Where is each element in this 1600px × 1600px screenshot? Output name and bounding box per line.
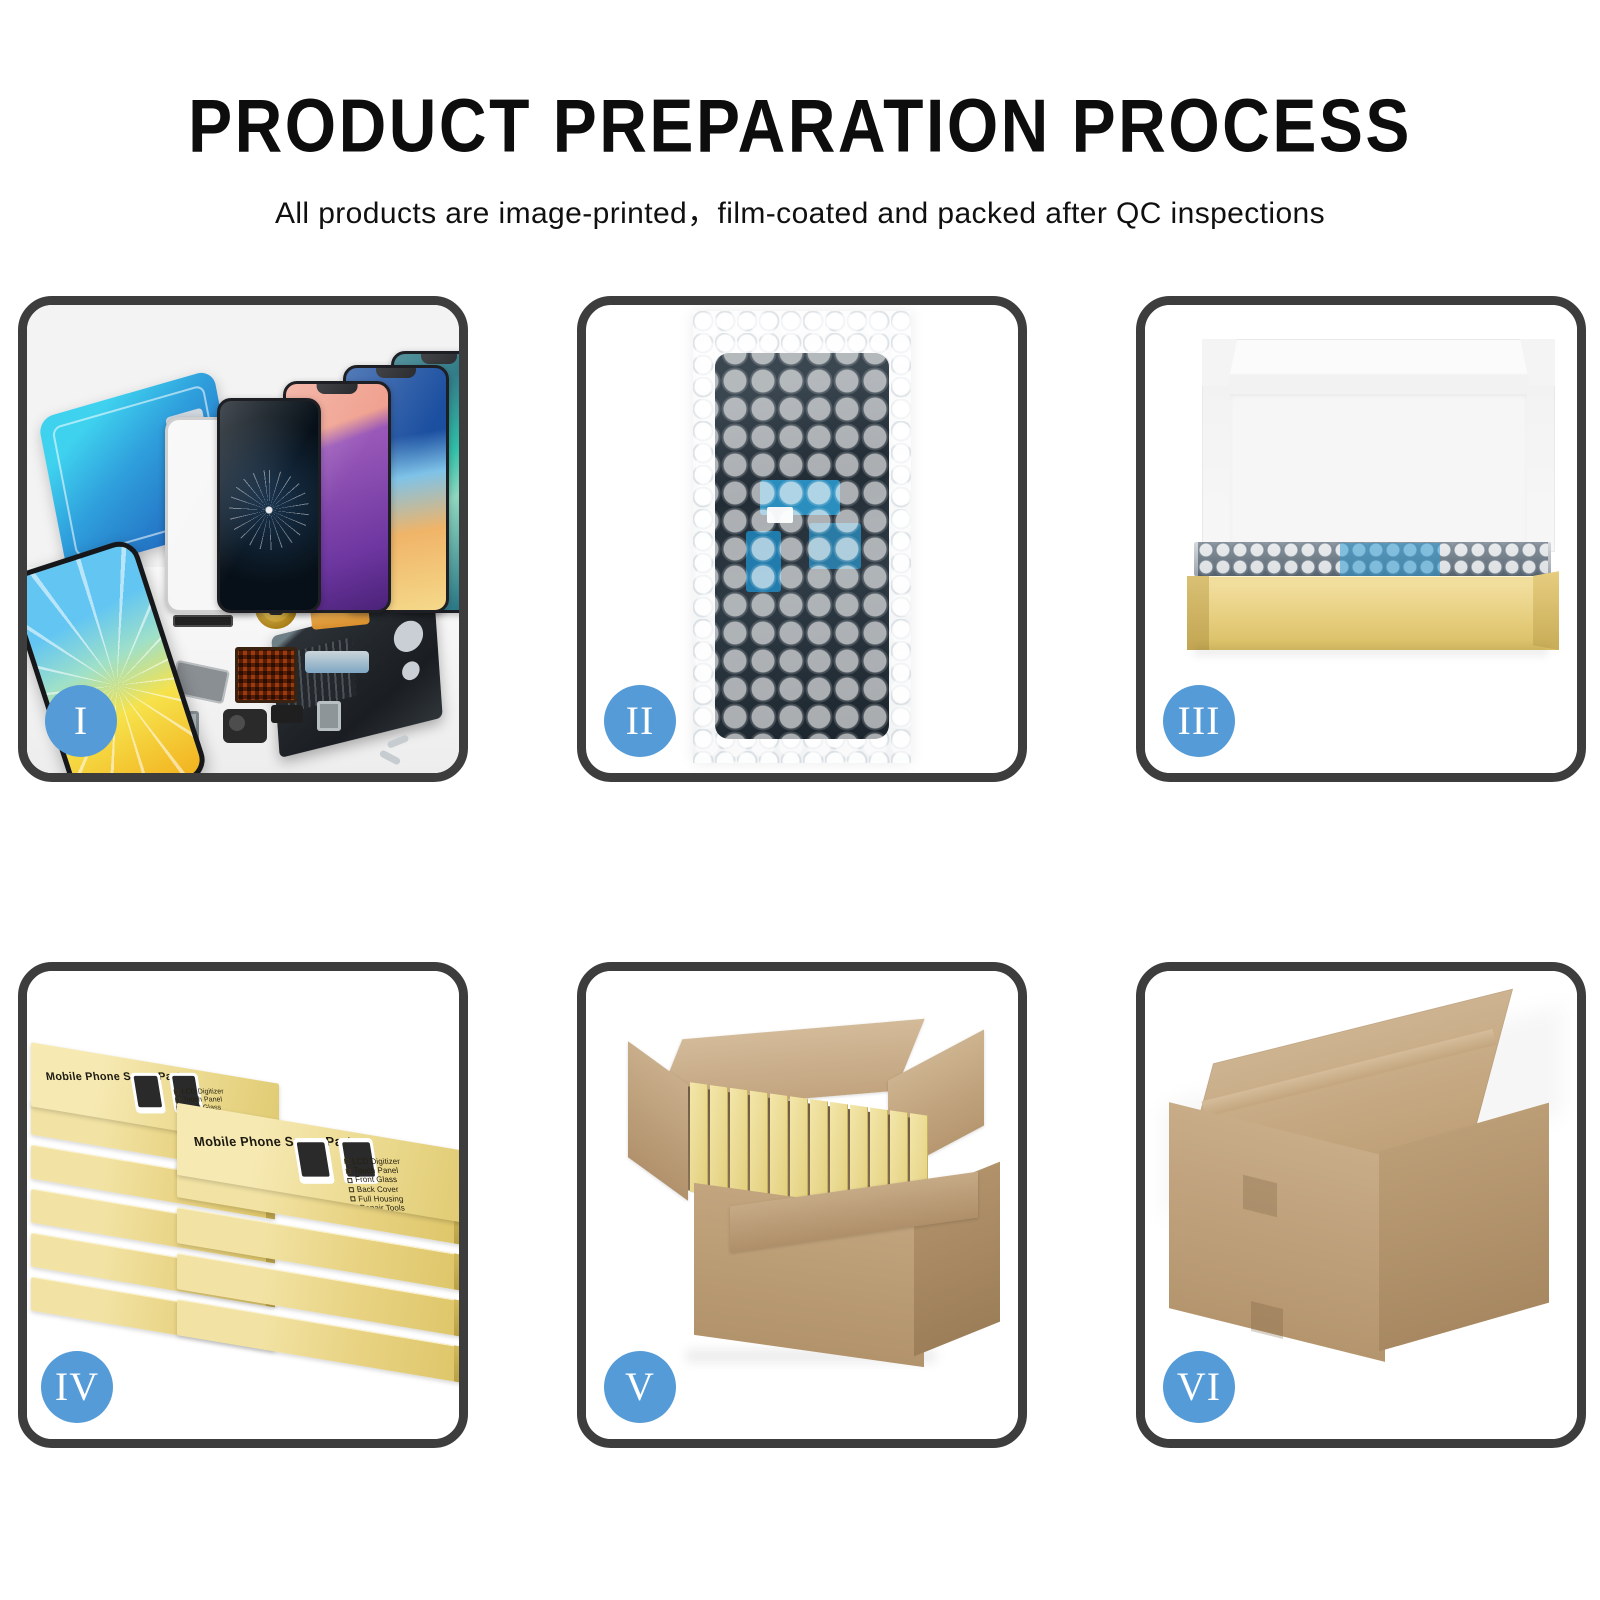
checklist-item: LCD Digitizer	[344, 1157, 401, 1166]
step-numeral-6: VI	[1177, 1367, 1221, 1407]
speaker-bar-part	[173, 615, 233, 627]
product-label-sticker	[767, 507, 793, 523]
box-shadow	[1194, 647, 1547, 656]
step-panel-6: VI	[1136, 962, 1586, 1448]
step-panel-1: I	[18, 296, 468, 782]
retail-box-stack: Mobile Phone Spare Parts LCD Digitizer T…	[27, 989, 459, 1409]
step-badge-5: V	[604, 1351, 676, 1423]
spare-parts-group	[167, 587, 397, 767]
contents-blue-accent	[1340, 543, 1440, 577]
screen-thumb-white	[293, 1138, 335, 1183]
phone-cracked-screen	[217, 398, 321, 613]
header: PRODUCT PREPARATION PROCESS All products…	[0, 0, 1600, 232]
step-panel-2: II	[577, 296, 1027, 782]
step-badge-2: II	[604, 685, 676, 757]
step-numeral-5: V	[625, 1367, 655, 1407]
step-numeral-3: III	[1178, 701, 1221, 741]
screen-thumb-white	[130, 1073, 166, 1113]
step-badge-4: IV	[41, 1351, 113, 1423]
step-badge-6: VI	[1163, 1351, 1235, 1423]
vibrator-part	[317, 701, 341, 731]
shipping-carton-open	[626, 1029, 986, 1389]
step-numeral-1: I	[74, 701, 88, 741]
box-lid-white	[1202, 339, 1555, 552]
sealed-shipping-carton	[1163, 1031, 1563, 1361]
step-panel-4: Mobile Phone Spare Parts LCD Digitizer T…	[18, 962, 468, 1448]
ic-chip-part	[235, 647, 297, 703]
infographic-page: PRODUCT PREPARATION PROCESS All products…	[0, 0, 1600, 1600]
earpiece-part	[271, 705, 303, 723]
wrapped-screen-assembly	[715, 353, 889, 739]
checklist-item: Front Glass	[347, 1176, 398, 1185]
checklist-item: LCD Digitizer	[174, 1089, 225, 1096]
step-panel-5: V	[577, 962, 1027, 1448]
process-grid: I II	[18, 296, 1586, 1448]
page-subtitle: All products are image-printed，film-coat…	[0, 188, 1600, 232]
camera-module-part	[223, 709, 267, 743]
page-title: PRODUCT PREPARATION PROCESS	[0, 82, 1600, 169]
step-numeral-4: IV	[55, 1367, 99, 1407]
checklist-item: Full Housing	[350, 1194, 404, 1203]
checklist-item: Touch Panel	[345, 1166, 399, 1175]
step-panel-3: III	[1136, 296, 1586, 782]
checklist-item: Back Cover	[348, 1185, 399, 1194]
flex-cable-blue	[305, 651, 369, 673]
step-badge-1: I	[45, 685, 117, 757]
step-badge-3: III	[1163, 685, 1235, 757]
bubble-wrap-pouch	[693, 311, 911, 763]
box-base-gold	[1187, 576, 1560, 650]
step-numeral-2: II	[626, 701, 655, 741]
lid-inner-face	[1230, 394, 1527, 552]
gift-box-open	[1179, 339, 1563, 677]
